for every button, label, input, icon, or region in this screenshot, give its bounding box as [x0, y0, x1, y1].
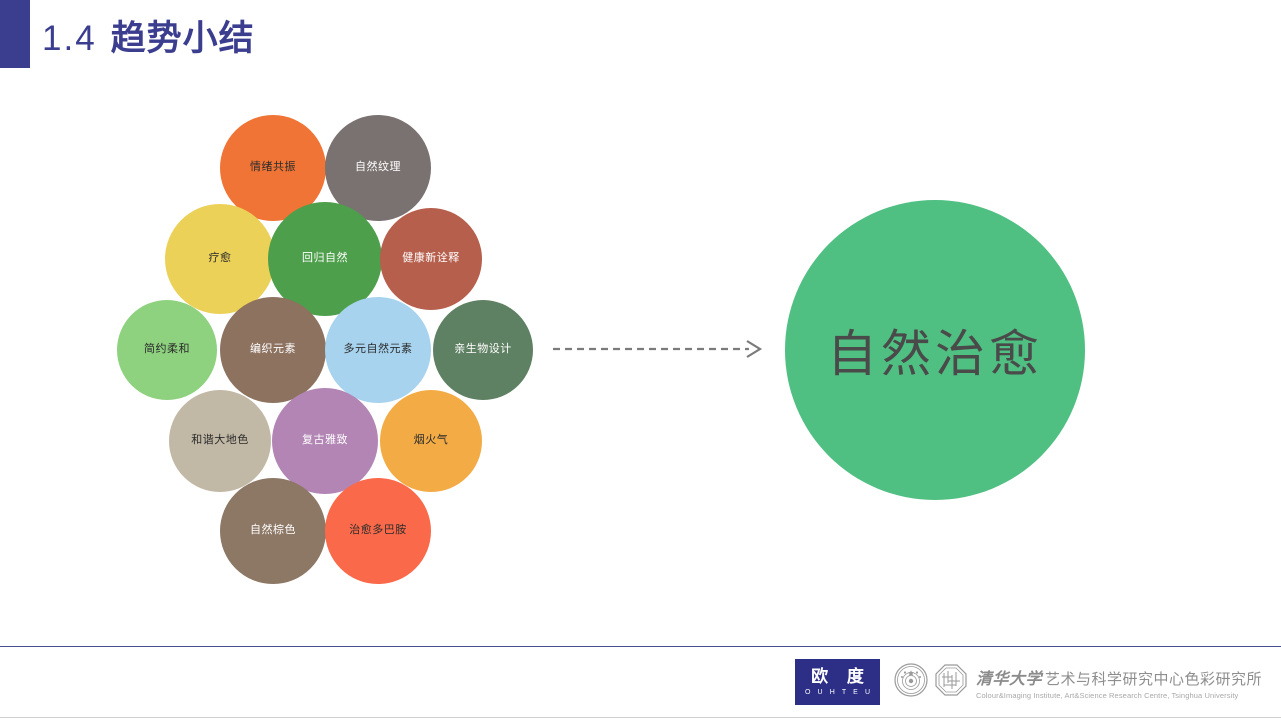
dashed-arrow: [553, 336, 768, 362]
ouhteu-logo-en: O U H T E U: [802, 689, 872, 696]
bubble-label: 复古雅致: [302, 434, 348, 447]
bubble-label: 自然纹理: [355, 161, 401, 174]
bubble-5: 健康新诠释: [380, 208, 482, 310]
bubble-8: 多元自然元素: [325, 297, 431, 403]
bubble-13: 自然棕色: [220, 478, 326, 584]
bubble-6: 简约柔和: [117, 300, 217, 400]
footer-divider: [0, 646, 1281, 647]
bubble-label: 烟火气: [414, 434, 449, 447]
tsinghua-name-rest: 艺术与科学研究中心色彩研究所: [1045, 668, 1262, 689]
tsinghua-brush-cn: 清华大学: [976, 665, 1042, 689]
bubble-label: 和谐大地色: [191, 434, 249, 447]
bubble-14: 治愈多巴胺: [325, 478, 431, 584]
tsinghua-emblems: [894, 663, 968, 702]
bubble-9: 亲生物设计: [433, 300, 533, 400]
bubble-label: 简约柔和: [144, 343, 190, 356]
tsinghua-octagon-icon: [934, 663, 968, 702]
result-label: 自然治愈: [827, 314, 1043, 386]
tsinghua-seal-icon: [894, 663, 928, 702]
bubble-label: 治愈多巴胺: [349, 524, 407, 537]
bubble-11: 复古雅致: [272, 388, 378, 494]
bubble-label: 回归自然: [302, 252, 348, 265]
bubble-3: 疗愈: [165, 204, 275, 314]
bubble-12: 烟火气: [380, 390, 482, 492]
result-circle: 自然治愈: [785, 200, 1085, 500]
bubble-label: 自然棕色: [250, 524, 296, 537]
ouhteu-logo-cn: 欧 度: [804, 668, 871, 687]
bubble-10: 和谐大地色: [169, 390, 271, 492]
tsinghua-logo-block: 清华大学 艺术与科学研究中心色彩研究所 Colour&Imaging Insti…: [894, 663, 1262, 702]
bubble-label: 情绪共振: [250, 161, 296, 174]
tsinghua-name-cn: 清华大学 艺术与科学研究中心色彩研究所: [976, 665, 1262, 689]
bubble-label: 健康新诠释: [402, 252, 460, 265]
footer-bottom-divider: [0, 717, 1281, 718]
slide-root: 1.4趋势小结 情绪共振自然纹理疗愈回归自然健康新诠释简约柔和编织元素多元自然元…: [0, 0, 1281, 720]
ouhteu-logo: 欧 度 O U H T E U: [795, 659, 880, 705]
tsinghua-name-en: Colour&Imaging Institute, Art&Science Re…: [976, 691, 1262, 700]
bubble-label: 编织元素: [250, 343, 296, 356]
tsinghua-text: 清华大学 艺术与科学研究中心色彩研究所 Colour&Imaging Insti…: [976, 665, 1262, 700]
footer: 欧 度 O U H T E U: [795, 658, 1262, 706]
bubble-cluster: 情绪共振自然纹理疗愈回归自然健康新诠释简约柔和编织元素多元自然元素亲生物设计和谐…: [0, 0, 560, 620]
bubble-7: 编织元素: [220, 297, 326, 403]
bubble-label: 疗愈: [209, 252, 232, 265]
bubble-label: 多元自然元素: [344, 343, 413, 356]
bubble-label: 亲生物设计: [454, 343, 512, 356]
